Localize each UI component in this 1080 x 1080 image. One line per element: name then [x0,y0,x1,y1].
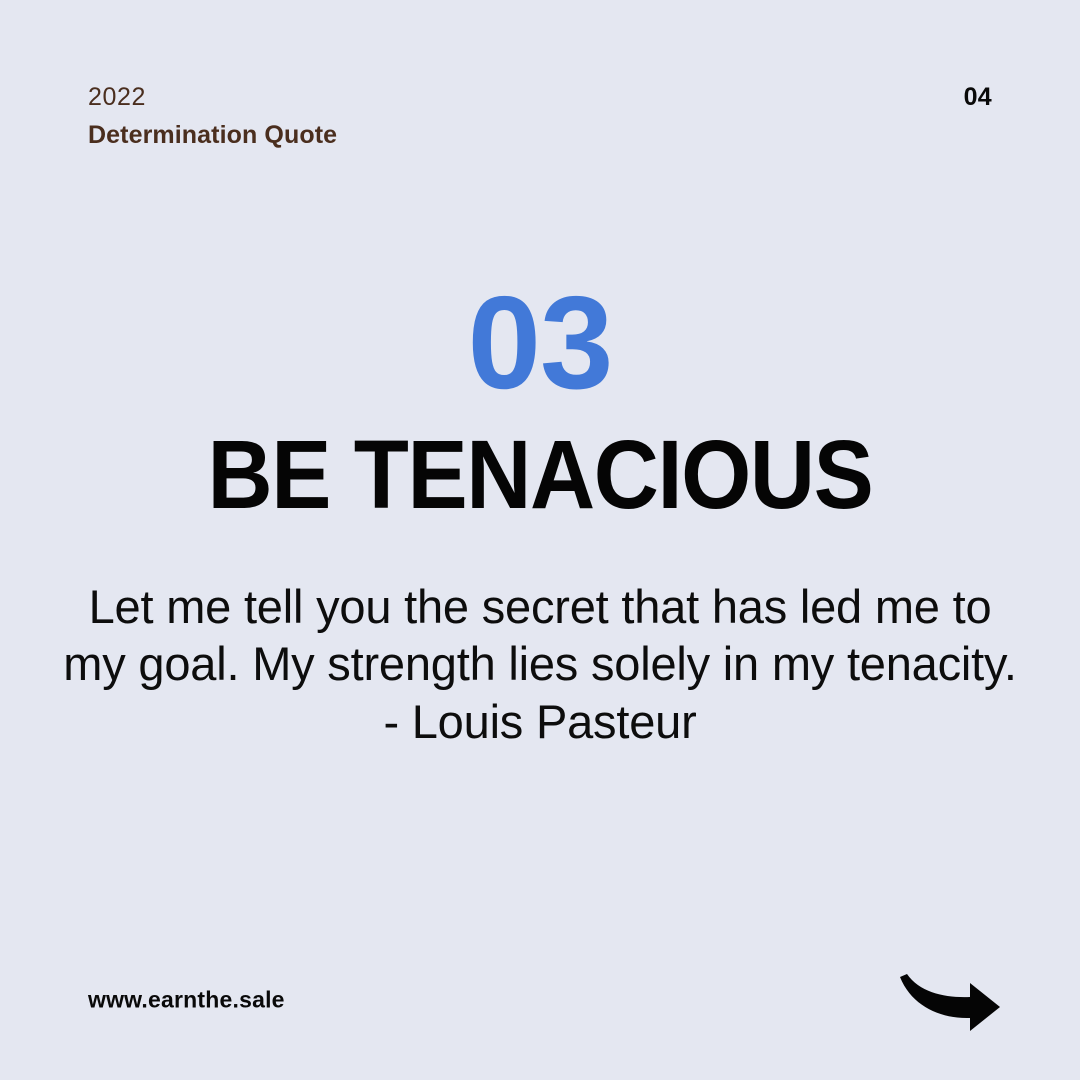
page-number: 04 [964,84,992,112]
curved-arrow-right-icon[interactable] [898,969,1002,1031]
page-title: BE TENACIOUS [38,430,1042,519]
step-number: 03 [0,286,1080,400]
quote-block: Let me tell you the secret that has led … [60,578,1020,750]
main-content: 03 BE TENACIOUS [0,286,1080,519]
series-title: Determination Quote [88,122,337,150]
quote-attribution: - Louis Pasteur [60,693,1020,750]
website-url: www.earnthe.sale [88,987,285,1014]
quote-slide: 2022 Determination Quote 04 03 BE TENACI… [0,0,1080,1080]
header-left-group: 2022 Determination Quote [88,84,337,149]
quote-line-2: goal. My strength lies solely in my tena… [138,637,1016,690]
slide-header: 2022 Determination Quote 04 [88,84,992,149]
year-label: 2022 [88,84,146,112]
